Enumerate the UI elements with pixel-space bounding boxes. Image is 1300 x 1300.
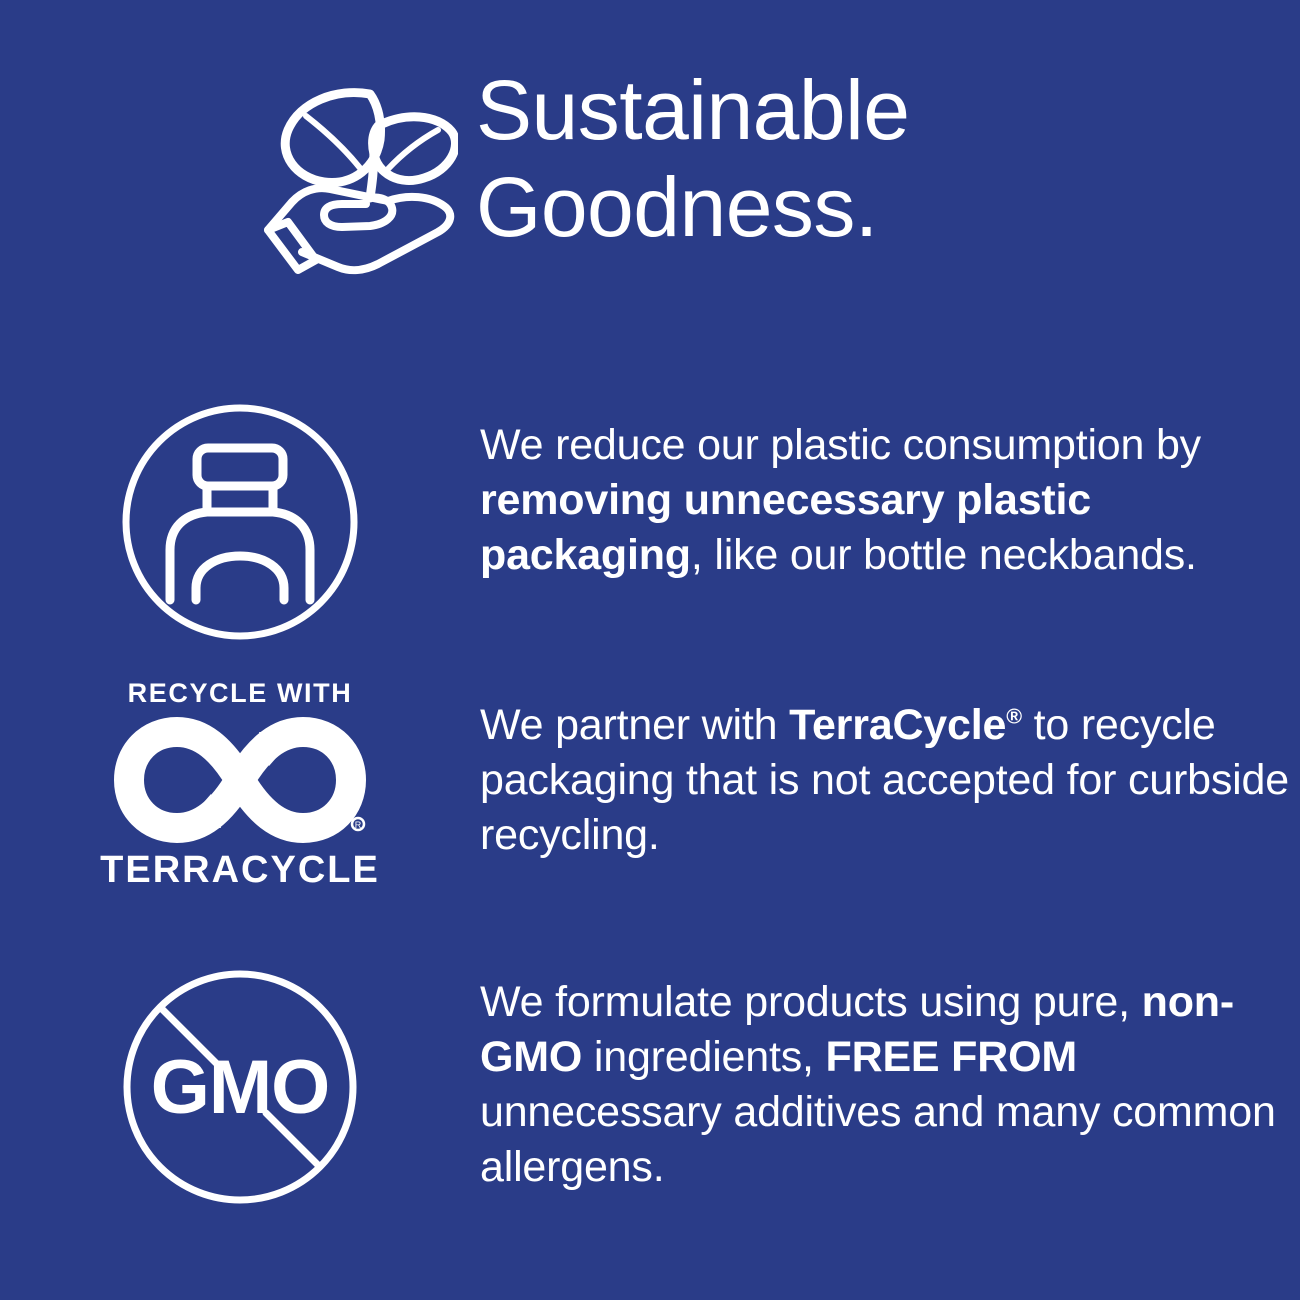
feature-row-non-gmo: GMO We formulate products using pure, no… [0, 965, 1300, 1209]
feature-row-terracycle: RECYCLE WITH R TERRACYCLE [0, 680, 1300, 889]
header: Sustainable Goodness. [258, 62, 1258, 282]
svg-text:R: R [355, 820, 362, 830]
icon-cell: GMO [0, 965, 480, 1209]
feature-row-plastic-reduction: We reduce our plastic consumption by rem… [0, 400, 1300, 649]
plastic-bottle-in-circle-icon [118, 400, 362, 649]
terracycle-bottom-label: TERRACYCLE [100, 851, 380, 889]
terracycle-infinity-icon: R [109, 714, 371, 846]
terracycle-top-label: RECYCLE WITH [128, 680, 353, 707]
gmo-label: GMO [118, 965, 362, 1209]
page-title: Sustainable Goodness. [476, 62, 910, 257]
no-gmo-icon: GMO [118, 965, 362, 1209]
feature-text-non-gmo: We formulate products using pure, non-GM… [480, 965, 1300, 1195]
feature-text-plastic-reduction: We reduce our plastic consumption by rem… [480, 400, 1300, 583]
terracycle-logo: RECYCLE WITH R TERRACYCLE [109, 680, 371, 889]
feature-text-terracycle: We partner with TerraCycle® to recycle p… [480, 680, 1300, 863]
icon-cell: RECYCLE WITH R TERRACYCLE [0, 680, 480, 889]
hand-holding-plant-icon [258, 74, 458, 279]
sustainability-infographic: Sustainable Goodness. [0, 0, 1300, 1300]
icon-cell [0, 400, 480, 649]
